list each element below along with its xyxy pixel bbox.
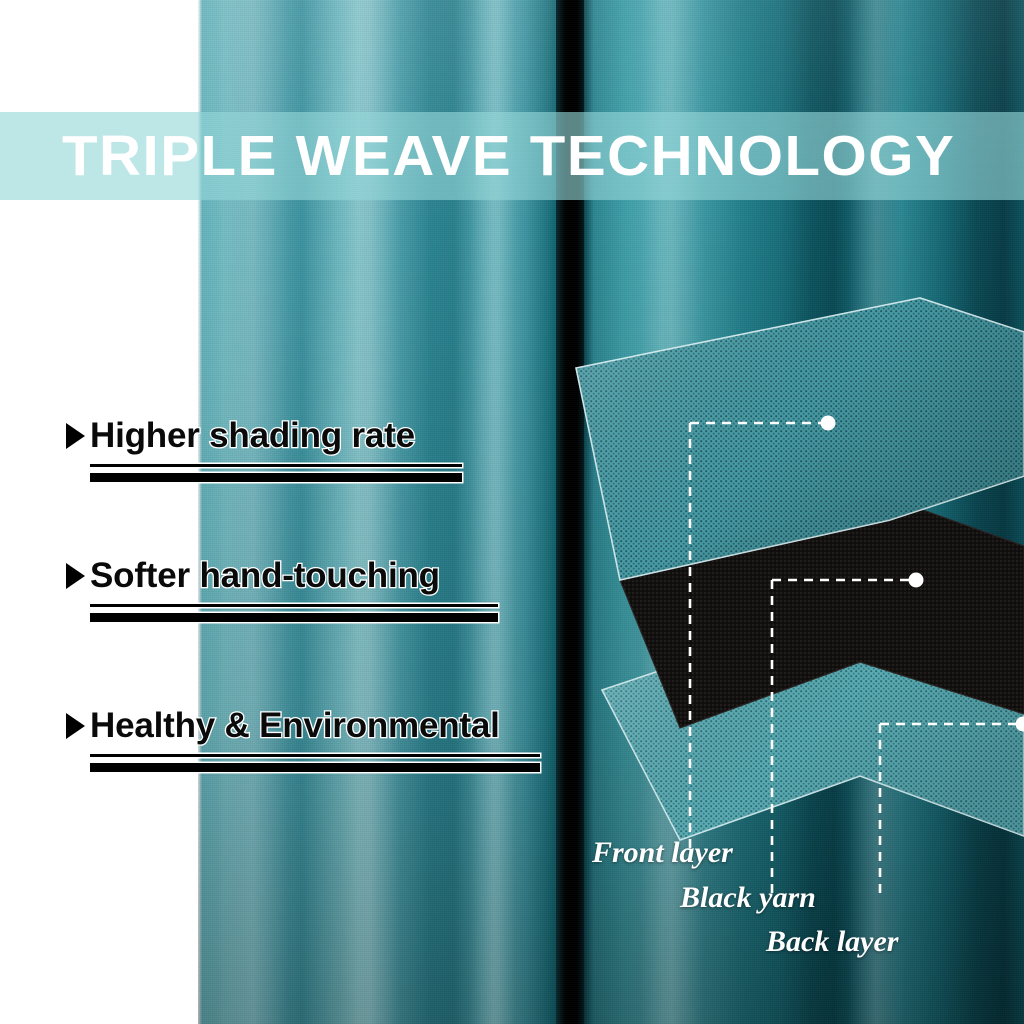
underline-thick-rule bbox=[90, 613, 498, 622]
triangle-right-icon bbox=[66, 713, 85, 739]
feature-label: Healthy & Environmental bbox=[90, 708, 500, 745]
diagram-label-black-yarn: Black yarn bbox=[680, 881, 816, 915]
diagram-label-back-layer: Back layer bbox=[766, 925, 898, 959]
underline-thin-rule bbox=[90, 754, 540, 757]
triangle-right-icon bbox=[66, 423, 85, 449]
underline-thick-rule bbox=[90, 763, 540, 772]
underline-thin-rule bbox=[90, 604, 498, 607]
underline-thin-rule bbox=[90, 464, 462, 467]
feature-underline bbox=[90, 464, 462, 482]
feature-underline bbox=[90, 604, 498, 622]
underline-thick-rule bbox=[90, 473, 462, 482]
triangle-right-icon bbox=[66, 563, 85, 589]
feature-softer-hand-touching: Softer hand-touching bbox=[66, 558, 498, 622]
title-banner: TRIPLE WEAVE TECHNOLOGY bbox=[0, 112, 1024, 200]
product-infographic: Front layer Black yarn Back layer TRIPLE… bbox=[0, 0, 1024, 1024]
feature-healthy-environmental: Healthy & Environmental bbox=[66, 708, 540, 772]
feature-label: Higher shading rate bbox=[90, 418, 415, 455]
black-yarn-marker-dot bbox=[909, 573, 924, 588]
triple-weave-layer-diagram bbox=[560, 280, 1024, 900]
feature-higher-shading-rate: Higher shading rate bbox=[66, 418, 462, 482]
feature-label: Softer hand-touching bbox=[90, 558, 440, 595]
diagram-label-front-layer: Front layer bbox=[592, 836, 733, 870]
front-layer-marker-dot bbox=[821, 416, 836, 431]
feature-underline bbox=[90, 754, 540, 772]
banner-title: TRIPLE WEAVE TECHNOLOGY bbox=[62, 128, 955, 185]
